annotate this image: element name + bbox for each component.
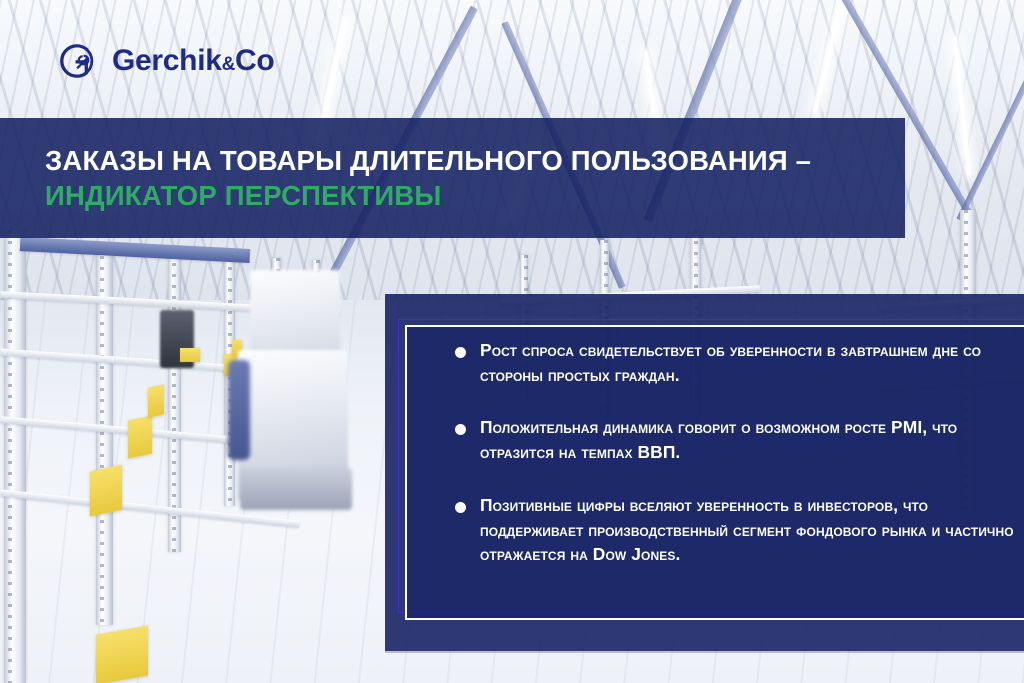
title-line-2: ИНДИКАТОР ПЕРСПЕКТИВЫ: [45, 180, 905, 212]
panel-drop-shadow: [385, 651, 1024, 653]
rack-guard: [90, 465, 122, 517]
pallet-truck-base: [240, 468, 352, 510]
bullet-text: Рост спроса свидетельствует об увереннос…: [480, 338, 1019, 387]
rack-guard: [180, 348, 200, 362]
content-panel: Рост спроса свидетельствует об увереннос…: [385, 294, 1024, 651]
rack-guard: [96, 625, 148, 683]
bullet-text: Положительная динамика говорит о возможн…: [480, 415, 1019, 464]
list-item: Положительная динамика говорит о возможн…: [455, 415, 1019, 464]
brand-name-amp: &: [222, 54, 235, 75]
bullet-dot-icon: [455, 424, 466, 435]
poster-canvas: Gerchik&Co ЗАКАЗЫ НА ТОВАРЫ ДЛИТЕЛЬНОГО …: [0, 0, 1024, 683]
rack-guard: [148, 384, 164, 417]
bullet-dot-icon: [455, 502, 466, 513]
brand-name-part2: Co: [235, 44, 274, 77]
worker-figure: [228, 360, 250, 460]
title-line-1: ЗАКАЗЫ НА ТОВАРЫ ДЛИТЕЛЬНОГО ПОЛЬЗОВАНИЯ…: [45, 145, 905, 177]
brand-name-part1: Gerchik: [112, 44, 222, 77]
bullet-dot-icon: [455, 347, 466, 358]
brand-name: Gerchik&Co: [112, 46, 274, 76]
list-item: Позитивные цифры вселяют уверенность в и…: [455, 493, 1019, 567]
bullet-list: Рост спроса свидетельствует об увереннос…: [455, 338, 1019, 567]
list-item: Рост спроса свидетельствует об увереннос…: [455, 338, 1019, 387]
bullet-text: Позитивные цифры вселяют уверенность в и…: [480, 493, 1019, 567]
brand-logo[interactable]: Gerchik&Co: [56, 38, 274, 84]
cg-monogram-icon: [56, 38, 102, 84]
rack-guard: [128, 415, 152, 458]
title-banner: ЗАКАЗЫ НА ТОВАРЫ ДЛИТЕЛЬНОГО ПОЛЬЗОВАНИЯ…: [0, 118, 905, 238]
